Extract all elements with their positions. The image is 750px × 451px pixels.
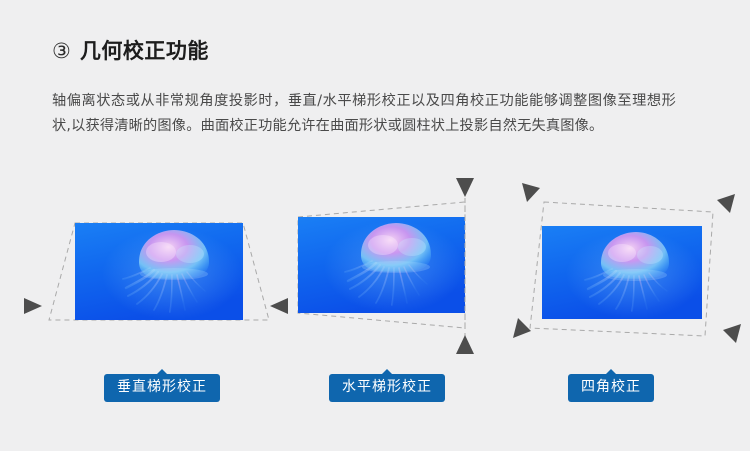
arrow-top-right-icon <box>456 178 474 197</box>
projection-image <box>75 223 243 320</box>
arrow-top-right-icon <box>717 194 735 213</box>
panel-horizontal-keystone: 水平梯形校正 <box>288 178 513 408</box>
page-title: 几何校正功能 <box>80 41 209 62</box>
vertical-keystone-illustration <box>22 178 290 368</box>
arrow-bottom-right-icon <box>456 335 474 354</box>
horizontal-keystone-illustration <box>288 178 513 368</box>
arrow-right-icon <box>270 298 288 314</box>
panel-vertical-keystone: 垂直梯形校正 <box>22 178 290 408</box>
arrow-bottom-right-icon <box>723 324 741 343</box>
four-corner-illustration <box>508 178 748 368</box>
badge-horizontal-keystone[interactable]: 水平梯形校正 <box>329 374 445 402</box>
badge-vertical-keystone[interactable]: 垂直梯形校正 <box>104 374 220 402</box>
arrow-top-left-icon <box>522 183 540 202</box>
panel-group: 垂直梯形校正 <box>0 178 750 408</box>
page-root: ③ 几何校正功能 轴偏离状态或从非常规角度投影时，垂直/水平梯形校正以及四角校正… <box>0 0 750 451</box>
description-paragraph: 轴偏离状态或从非常规角度投影时，垂直/水平梯形校正以及四角校正功能能够调整图像至… <box>52 89 676 139</box>
projection-image <box>298 217 465 313</box>
arrow-left-icon <box>24 298 42 314</box>
section-number: ③ <box>52 41 71 62</box>
arrow-bottom-left-icon <box>513 318 531 338</box>
section-heading: ③ 几何校正功能 <box>52 41 209 62</box>
panel-four-corner: 四角校正 <box>508 178 748 408</box>
badge-four-corner[interactable]: 四角校正 <box>568 374 654 402</box>
projection-image <box>542 226 702 319</box>
